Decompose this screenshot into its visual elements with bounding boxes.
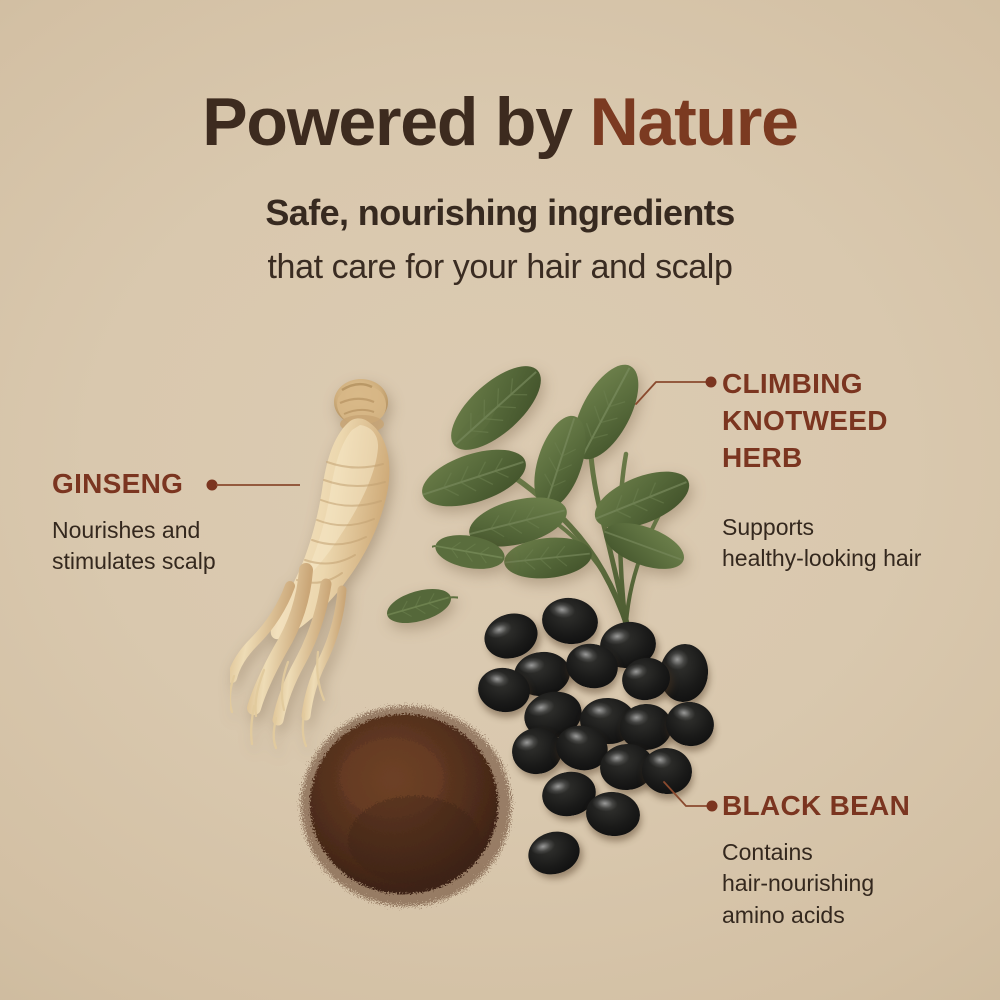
callout-body-line: amino acids: [722, 900, 972, 931]
callout-title-ginseng: GINSENG: [52, 466, 183, 503]
callout-body-black-bean: Contains hair-nourishing amino acids: [722, 837, 972, 931]
callout-body-line: healthy-looking hair: [722, 543, 992, 574]
callout-body-line: Contains: [722, 837, 972, 868]
callout-body-line: hair-nourishing: [722, 868, 972, 899]
loose-leaf-a-image: [384, 582, 458, 632]
subtitle-line-1: Safe, nourishing ingredients: [0, 192, 1000, 234]
callout-title-line: HERB: [722, 440, 972, 477]
page-title-accent: Nature: [590, 84, 798, 160]
callout-title-line: KNOTWEED: [722, 403, 972, 440]
subtitle-line-2: that care for your hair and scalp: [0, 248, 1000, 287]
bean: [662, 697, 718, 750]
loose-leaf-b-image: [432, 528, 512, 580]
callout-body-line: Nourishes and: [52, 515, 216, 546]
callout-body-line: Supports: [722, 512, 992, 543]
bean: [539, 594, 601, 647]
callout-title-climbing-knotweed-herb: CLIMBING KNOTWEED HERB: [722, 366, 972, 477]
callout-body-line: stimulates scalp: [52, 546, 216, 577]
callout-title-black-bean: BLACK BEAN: [722, 788, 910, 825]
bean: [523, 826, 585, 881]
callout-body-ginseng: Nourishes and stimulates scalp: [52, 515, 216, 578]
callout-body-climbing-knotweed-herb: Supports healthy-looking hair: [722, 512, 992, 575]
page-title-primary: Powered by: [202, 84, 589, 160]
black-bean-cluster-image: [470, 596, 720, 876]
poster-canvas: Powered by Nature Safe, nourishing ingre…: [0, 0, 1000, 1000]
callout-title-line: CLIMBING: [722, 366, 972, 403]
page-title: Powered by Nature: [0, 88, 1000, 156]
